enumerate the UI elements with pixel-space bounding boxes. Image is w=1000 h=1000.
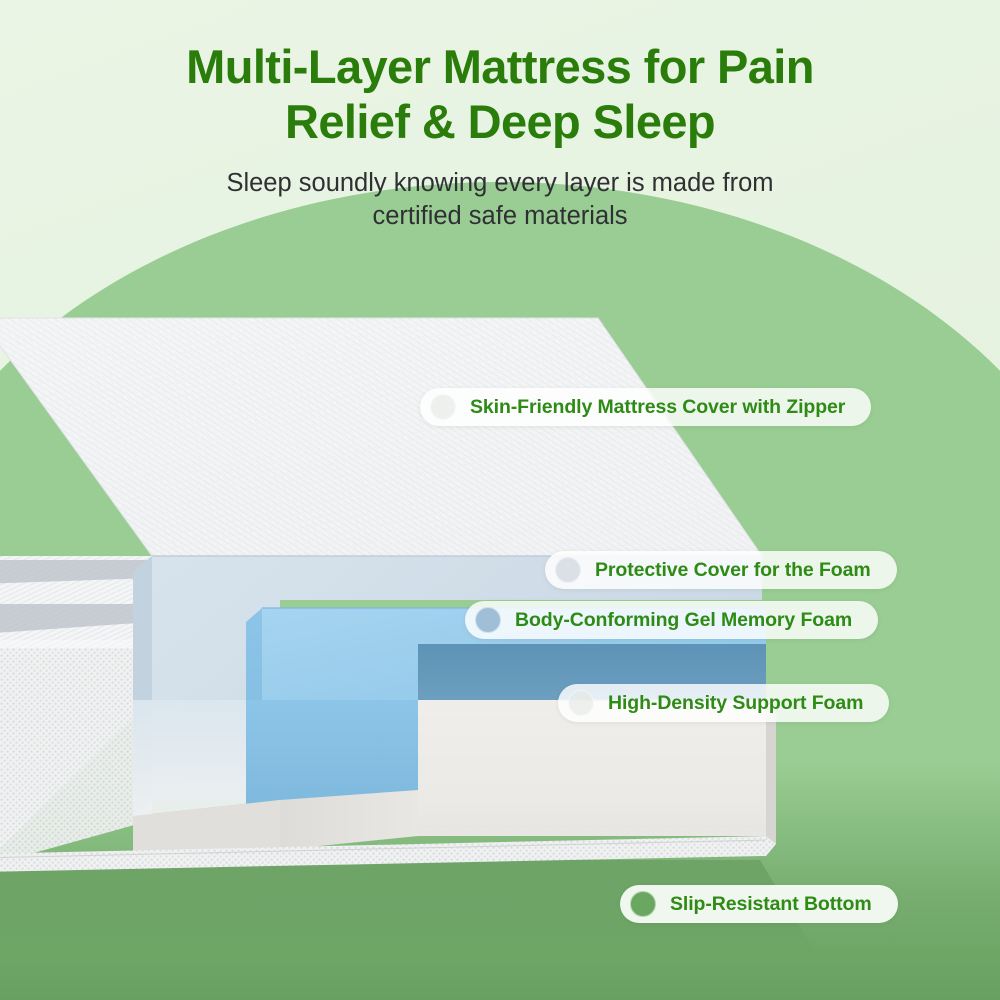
callout-label: Skin-Friendly Mattress Cover with Zipper — [470, 396, 845, 419]
title-line-2: Relief & Deep Sleep — [0, 95, 1000, 150]
bullet-dot-icon — [630, 891, 656, 917]
callout-skin-friendly-cover[interactable]: Skin-Friendly Mattress Cover with Zipper — [420, 388, 871, 426]
subtitle-line-1: Sleep soundly knowing every layer is mad… — [226, 169, 773, 197]
callout-label: Protective Cover for the Foam — [595, 559, 871, 582]
callout-label: Slip-Resistant Bottom — [670, 893, 872, 916]
bullet-dot-icon — [475, 607, 501, 633]
bullet-dot-icon — [568, 690, 594, 716]
page-subtitle: Sleep soundly knowing every layer is mad… — [0, 149, 1000, 232]
callout-protective-cover[interactable]: Protective Cover for the Foam — [545, 551, 897, 589]
callout-slip-resistant-bottom[interactable]: Slip-Resistant Bottom — [620, 885, 898, 923]
bullet-dot-icon — [555, 557, 581, 583]
callout-label: Body-Conforming Gel Memory Foam — [515, 609, 852, 632]
header-block: Multi-Layer Mattress for Pain Relief & D… — [0, 0, 1000, 232]
callout-label: High-Density Support Foam — [608, 692, 863, 715]
callout-gel-memory-foam[interactable]: Body-Conforming Gel Memory Foam — [465, 601, 878, 639]
subtitle-line-2: certified safe materials — [0, 200, 1000, 233]
callout-support-foam[interactable]: High-Density Support Foam — [558, 684, 889, 722]
infographic-canvas: Multi-Layer Mattress for Pain Relief & D… — [0, 0, 1000, 1000]
page-title: Multi-Layer Mattress for Pain Relief & D… — [0, 0, 1000, 149]
bullet-dot-icon — [430, 394, 456, 420]
title-line-1: Multi-Layer Mattress for Pain — [186, 40, 814, 93]
